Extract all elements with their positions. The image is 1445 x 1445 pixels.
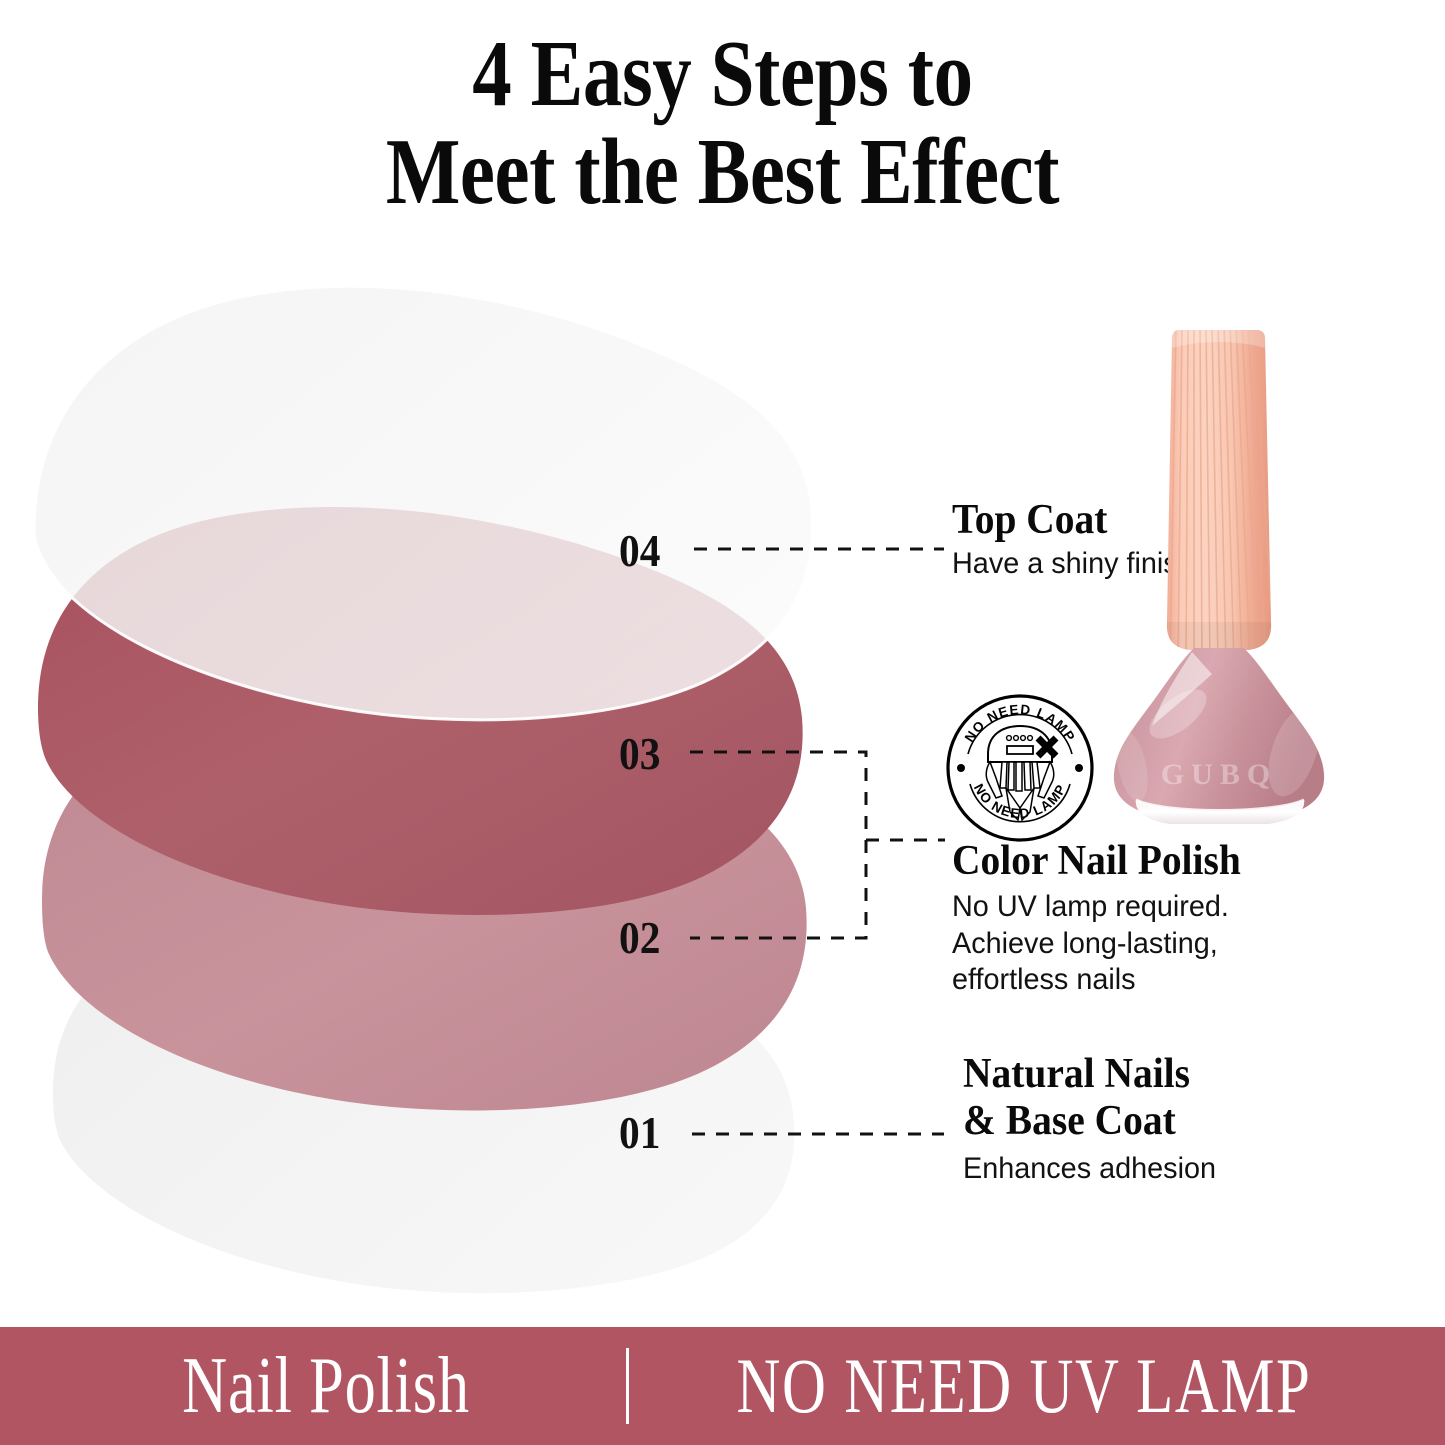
banner-right-text: NO NEED UV LAMP xyxy=(716,1341,1332,1431)
callout-color-polish-heading: Color Nail Polish xyxy=(952,838,1241,885)
step-number-02: 02 xyxy=(619,911,660,964)
callout-color-polish-line-1: No UV lamp required. xyxy=(952,889,1247,926)
callout-color-polish-line-3: effortless nails xyxy=(952,962,1247,999)
infographic-page: 4 Easy Steps to Meet the Best Effect xyxy=(0,0,1445,1445)
step-number-04: 04 xyxy=(619,524,660,577)
nail-polish-bottle: GUBQ xyxy=(1108,322,1348,832)
callout-color-polish-line-2: Achieve long-lasting, xyxy=(952,926,1247,963)
bottle-body: GUBQ xyxy=(1111,648,1329,824)
bottle-cap xyxy=(1167,322,1274,662)
no-need-lamp-badge-icon: NO NEED LAMP NO NEED LAMP xyxy=(944,692,1096,844)
step-number-01: 01 xyxy=(619,1106,660,1159)
bottle-embossed-brand: GUBQ xyxy=(1161,758,1277,791)
callout-color-nail-polish: Color Nail Polish No UV lamp required. A… xyxy=(952,838,1259,999)
callout-color-polish-description: No UV lamp required. Achieve long-lastin… xyxy=(952,889,1247,999)
callout-base-coat-line-1: Enhances adhesion xyxy=(963,1151,1216,1188)
nail-layer-stack xyxy=(20,240,850,1300)
banner-left-text: Nail Polish xyxy=(92,1341,560,1432)
step-number-03: 03 xyxy=(619,727,660,780)
callout-base-coat-heading-2: & Base Coat xyxy=(963,1098,1211,1145)
banner-divider xyxy=(626,1348,629,1424)
callout-base-coat-description: Enhances adhesion xyxy=(963,1151,1216,1188)
title-line-1: 4 Easy Steps to xyxy=(116,26,1330,124)
bottom-banner: Nail Polish NO NEED UV LAMP xyxy=(0,1327,1445,1445)
badge-dot-left xyxy=(957,764,965,772)
callout-base-coat-heading-1: Natural Nails xyxy=(963,1051,1211,1098)
page-title: 4 Easy Steps to Meet the Best Effect xyxy=(116,26,1330,222)
badge-dot-right xyxy=(1075,764,1083,772)
title-line-2: Meet the Best Effect xyxy=(116,124,1330,222)
callout-base-coat: Natural Nails & Base Coat Enhances adhes… xyxy=(963,1051,1227,1188)
